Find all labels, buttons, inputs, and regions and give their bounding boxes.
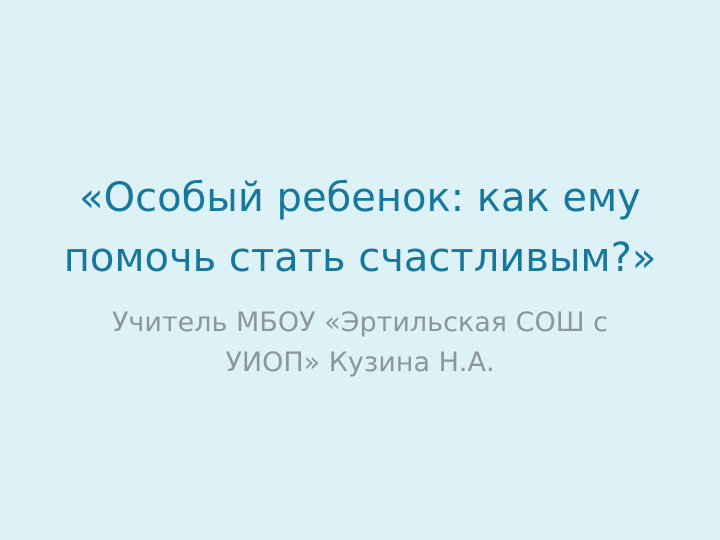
slide-content-area: «Особый ребенок: как ему помочь стать сч… xyxy=(0,0,720,540)
slide-subtitle-line-1: Учитель МБОУ «Эртильская СОШ с xyxy=(90,303,630,343)
slide-title-line-1: «Особый ребенок: как ему xyxy=(36,168,684,228)
slide-title: «Особый ребенок: как ему помочь стать сч… xyxy=(36,168,684,288)
presentation-slide: «Особый ребенок: как ему помочь стать сч… xyxy=(0,0,720,540)
slide-title-line-2: помочь стать счастливым?» xyxy=(36,228,684,288)
slide-subtitle-line-2: УИОП» Кузина Н.А. xyxy=(90,343,630,383)
slide-subtitle: Учитель МБОУ «Эртильская СОШ с УИОП» Куз… xyxy=(90,303,630,383)
